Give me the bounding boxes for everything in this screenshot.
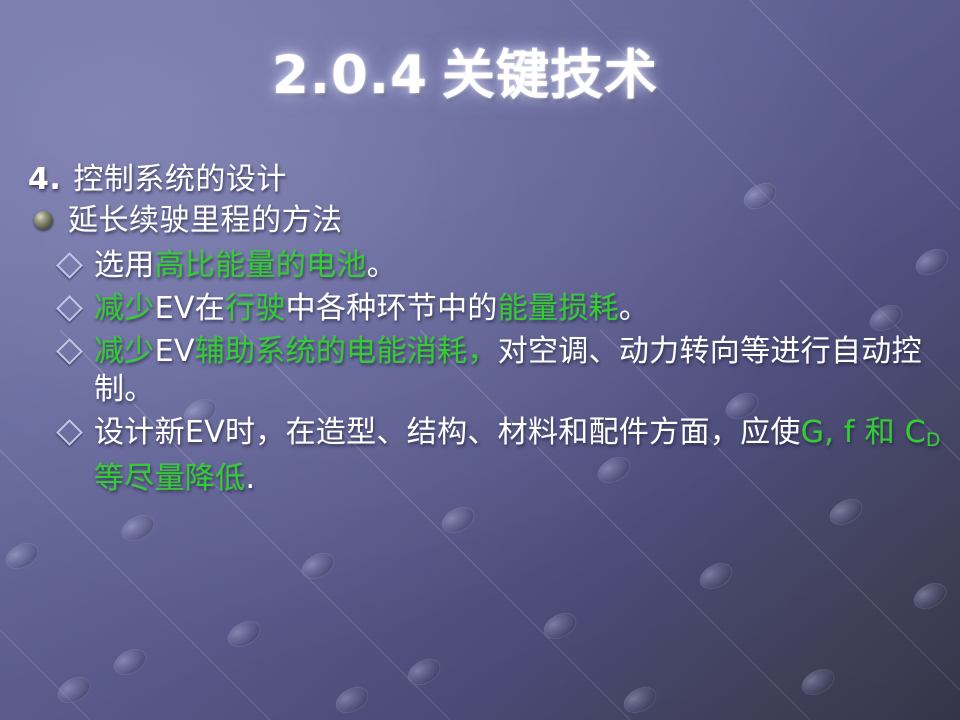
bullet-point-1: 选用高比能量的电池。 bbox=[24, 247, 948, 285]
seg-text-highlight: 能量损耗 bbox=[498, 291, 619, 326]
seg-subscript: D bbox=[926, 430, 941, 451]
seg-text: 设计新EV时，在造型、结构、材料和配件方面，应使 bbox=[94, 415, 801, 450]
seg-text-highlight: 高比能量的电池 bbox=[155, 248, 367, 283]
bullet-point-1-text: 选用高比能量的电池。 bbox=[94, 247, 948, 285]
diamond-bullet-icon bbox=[56, 295, 83, 322]
slide-title: 2.0.4关键技术 bbox=[0, 44, 960, 108]
body-heading-text: 控制系统的设计 bbox=[73, 162, 287, 197]
seg-text: . bbox=[246, 461, 256, 496]
seg-text: 选用 bbox=[94, 248, 155, 283]
body-heading-number: 4. bbox=[28, 162, 61, 197]
bullet-level2-label: 延长续驶里程的方法 bbox=[68, 203, 343, 238]
seg-text-highlight: G, f 和 C bbox=[801, 415, 926, 450]
bullet-point-4: 设计新EV时，在造型、结构、材料和配件方面，应使G, f 和 CD等尽量降低. bbox=[24, 414, 948, 498]
seg-text-highlight: 行驶 bbox=[225, 291, 286, 326]
seg-text: 。 bbox=[619, 291, 649, 326]
body-heading: 4. 控制系统的设计 bbox=[24, 160, 948, 200]
diamond-bullet-icon bbox=[56, 419, 83, 446]
sphere-bullet-icon bbox=[34, 211, 53, 230]
seg-text-highlight: 减少 bbox=[94, 334, 155, 369]
seg-text: 在 bbox=[195, 291, 225, 326]
seg-text-highlight: 等尽量降低 bbox=[94, 461, 246, 496]
bullet-point-2-text: 减少EV在行驶中各种环节中的能量损耗。 bbox=[94, 290, 948, 328]
bullet-point-4-text: 设计新EV时，在造型、结构、材料和配件方面，应使G, f 和 CD等尽量降低. bbox=[94, 414, 948, 498]
seg-text-highlight: 辅助系统的电能消耗， bbox=[195, 334, 498, 369]
presentation-slide: 2.0.4关键技术 4. 控制系统的设计 延长续驶里程的方法 选用高比能量的电池… bbox=[0, 0, 960, 720]
bullet-level2: 延长续驶里程的方法 bbox=[24, 200, 948, 242]
seg-text: 中各种环节中的 bbox=[286, 291, 498, 326]
diamond-bullet-icon bbox=[56, 252, 83, 279]
slide-body: 4. 控制系统的设计 延长续驶里程的方法 选用高比能量的电池。 减少EV在行驶中… bbox=[24, 160, 948, 498]
seg-text: EV bbox=[155, 291, 195, 326]
slide-title-number: 2.0.4 bbox=[272, 45, 428, 106]
bullet-point-2: 减少EV在行驶中各种环节中的能量损耗。 bbox=[24, 290, 948, 328]
bullet-point-3-text: 减少EV辅助系统的电能消耗，对空调、动力转向等进行自动控制。 bbox=[94, 333, 948, 409]
diamond-bullet-icon bbox=[56, 338, 83, 365]
seg-text: 。 bbox=[367, 248, 397, 283]
seg-text-highlight: 减少 bbox=[94, 291, 155, 326]
slide-title-text: 关键技术 bbox=[442, 45, 658, 106]
seg-text: EV bbox=[155, 334, 195, 369]
bullet-point-3: 减少EV辅助系统的电能消耗，对空调、动力转向等进行自动控制。 bbox=[24, 333, 948, 409]
